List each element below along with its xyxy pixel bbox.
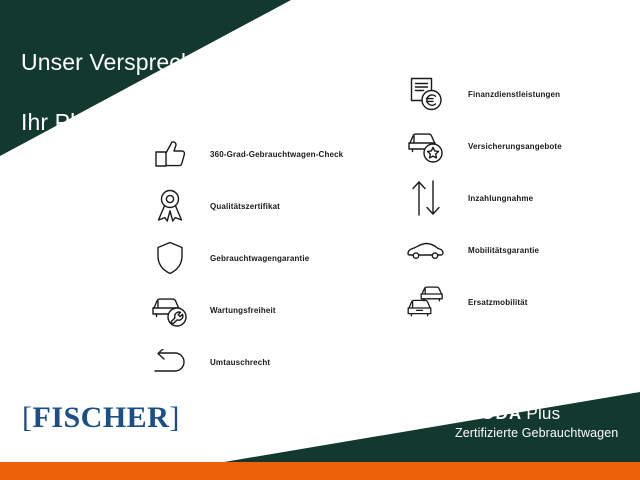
- feature-label: Qualitätszertifikat: [194, 202, 280, 211]
- feature-item: Gebrauchtwagengarantie: [146, 232, 386, 284]
- award-rosette-icon: [146, 184, 194, 228]
- brand-logo-mark: SKODA: [455, 404, 522, 423]
- orange-accent-bar: [0, 462, 640, 480]
- feature-label: Finanzdienstleistungen: [450, 90, 560, 99]
- feature-item: Qualitätszertifikat: [146, 180, 386, 232]
- feature-item: Versicherungsangebote: [402, 120, 640, 172]
- feature-label: Versicherungsangebote: [450, 142, 562, 151]
- shield-icon: [146, 236, 194, 280]
- feature-item: 360-Grad-Gebrauchtwagen-Check: [146, 128, 386, 180]
- feature-list-left: 360-Grad-Gebrauchtwagen-Check Qualitätsz…: [146, 128, 386, 388]
- feature-item: Mobilitätsgarantie: [402, 224, 640, 276]
- dealer-logo: [FISCHER]: [22, 401, 180, 435]
- feature-label: Umtauschrecht: [194, 358, 270, 367]
- dealer-logo-bracket-close: ]: [169, 401, 180, 434]
- dealer-logo-name: FISCHER: [33, 401, 170, 434]
- feature-item: Ersatzmobilität: [402, 276, 640, 328]
- feature-item: Umtauschrecht: [146, 336, 386, 388]
- thumbs-up-icon: [146, 132, 194, 176]
- feature-item: Finanzdienstleistungen: [402, 68, 640, 120]
- feature-label: Ersatzmobilität: [450, 298, 528, 307]
- feature-label: Mobilitätsgarantie: [450, 246, 539, 255]
- dealer-logo-bracket-open: [: [22, 401, 33, 434]
- feature-label: Wartungsfreiheit: [194, 306, 276, 315]
- feature-item: Inzahlungnahme: [402, 172, 640, 224]
- feature-label: Inzahlungnahme: [450, 194, 533, 203]
- return-arrow-icon: [146, 340, 194, 384]
- feature-label: Gebrauchtwagengarantie: [194, 254, 309, 263]
- feature-label: 360-Grad-Gebrauchtwagen-Check: [194, 150, 343, 159]
- two-cars-icon: [402, 280, 450, 324]
- brand-logo-title: SKODAPlus: [455, 404, 618, 424]
- car-side-icon: [402, 228, 450, 272]
- brand-logo: SKODAPlus Zertifizierte Gebrauchtwagen: [455, 404, 618, 441]
- headline-line-1: Unser Versprechen.: [21, 47, 226, 77]
- feature-item: Wartungsfreiheit: [146, 284, 386, 336]
- document-euro-icon: [402, 72, 450, 116]
- car-star-icon: [402, 124, 450, 168]
- feature-list-right: Finanzdienstleistungen Versicherungsange…: [402, 68, 640, 328]
- up-down-arrows-icon: [402, 176, 450, 220]
- brand-logo-tagline: Zertifizierte Gebrauchtwagen: [455, 425, 618, 441]
- promo-banner: Unser Versprechen. Ihr Plus. 360-Grad-Ge…: [0, 0, 640, 480]
- brand-logo-plus: Plus: [526, 404, 560, 423]
- car-wrench-icon: [146, 288, 194, 332]
